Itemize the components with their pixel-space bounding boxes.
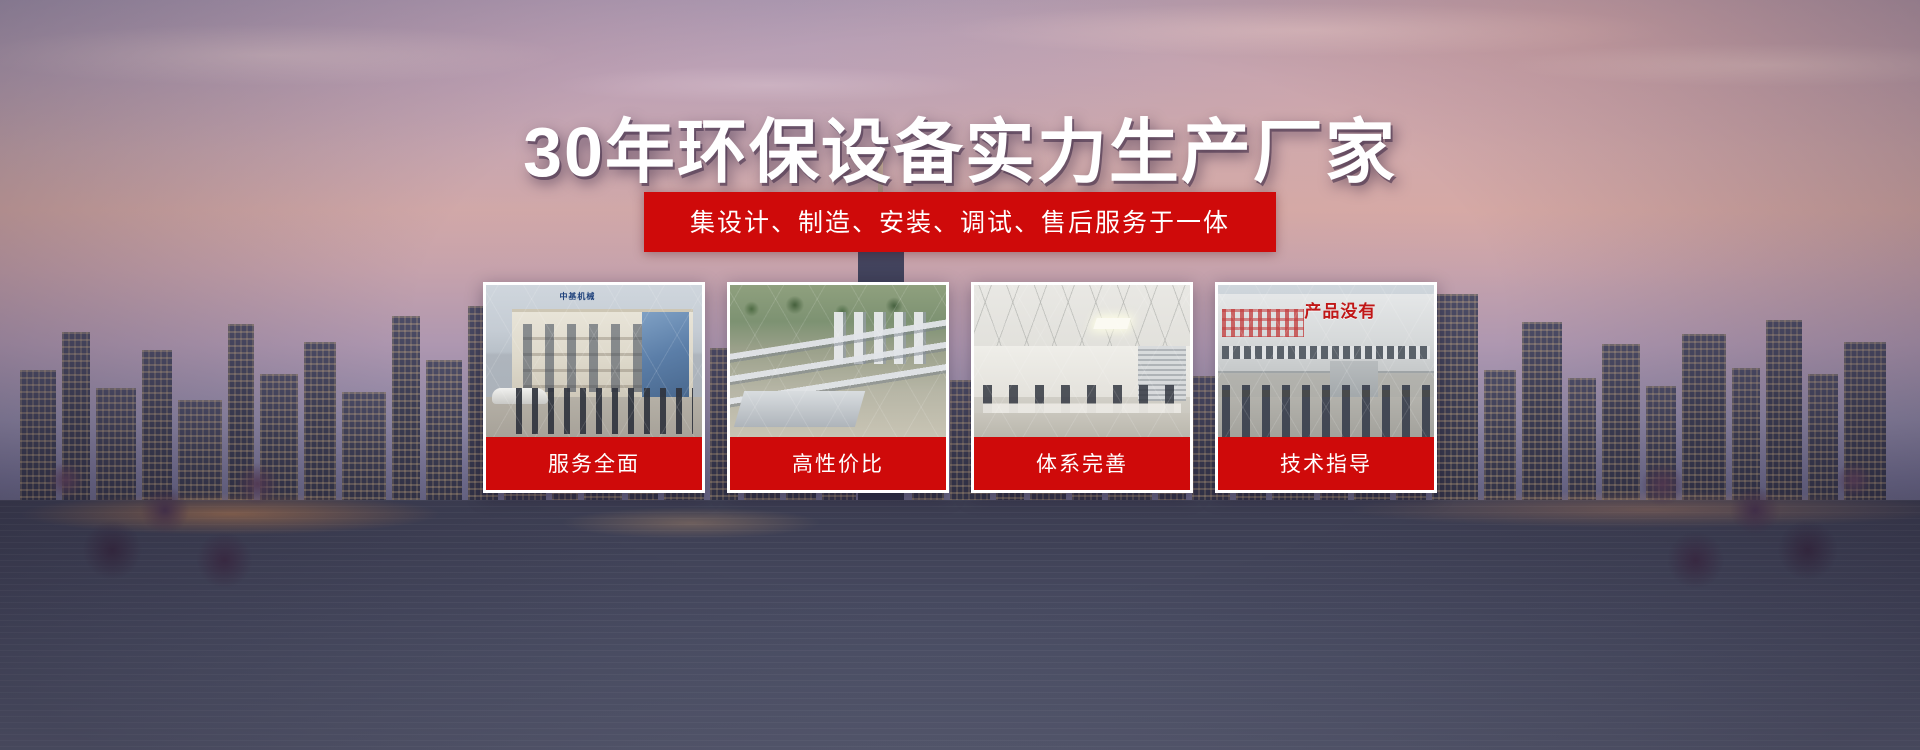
- feature-card-row: 中基机械 服务全面 高性价比: [483, 282, 1437, 493]
- subtitle-banner: 集设计、制造、安装、调试、售后服务于一体: [644, 192, 1276, 252]
- hero-banner: 30年环保设备实力生产厂家 集设计、制造、安装、调试、售后服务于一体 中基机械 …: [0, 0, 1920, 750]
- card-photo-office-building: 中基机械: [486, 285, 702, 437]
- card-photo-plant-aerial: [730, 285, 946, 437]
- feature-card[interactable]: 中基机械 服务全面: [483, 282, 705, 493]
- feature-card[interactable]: 高性价比: [727, 282, 949, 493]
- card-label: 服务全面: [486, 437, 702, 490]
- feature-card[interactable]: 体系完善: [971, 282, 1193, 493]
- feature-card[interactable]: 产品没有 技术指导: [1215, 282, 1437, 493]
- foliage-right: [1590, 400, 1920, 600]
- card-label: 技术指导: [1218, 437, 1434, 490]
- building-sign-text: 中基机械: [559, 291, 595, 302]
- card-label: 体系完善: [974, 437, 1190, 490]
- card-label: 高性价比: [730, 437, 946, 490]
- subtitle-container: 集设计、制造、安装、调试、售后服务于一体: [0, 192, 1920, 252]
- factory-sign-text: 产品没有: [1304, 297, 1429, 322]
- card-photo-office-interior: [974, 285, 1190, 437]
- foliage-left: [0, 400, 330, 600]
- page-title: 30年环保设备实力生产厂家: [0, 96, 1920, 197]
- card-photo-factory-workers: 产品没有: [1218, 285, 1434, 437]
